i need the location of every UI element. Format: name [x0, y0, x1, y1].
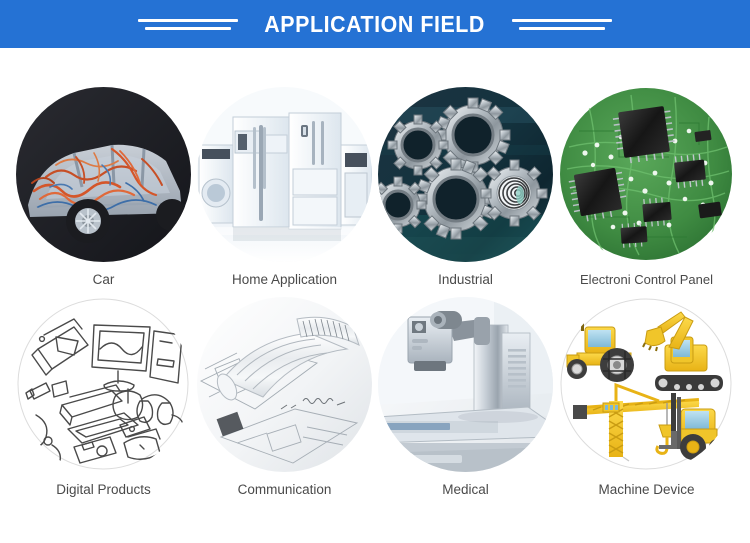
grid-item-label: Machine Device — [598, 482, 694, 497]
industrial-gears-photo — [378, 87, 553, 262]
application-field-page: APPLICATION FIELD — [0, 0, 750, 543]
car-wiring-harness-photo — [16, 87, 191, 262]
grid-item-label: Industrial — [438, 272, 493, 287]
blueprint-drawings-photo — [197, 297, 372, 472]
grid-item-communication[interactable]: Communication — [195, 297, 374, 497]
grid-item-digital-products[interactable]: Digital Products — [14, 297, 193, 497]
grid-item-industrial[interactable]: Industrial — [376, 87, 555, 287]
grid-item-electroni-control-panel[interactable]: Electroni Control Panel — [557, 87, 736, 287]
medical-xray-machine-photo — [378, 297, 553, 472]
grid-item-car[interactable]: Car — [14, 87, 193, 287]
decorative-rule-left-icon — [138, 19, 238, 30]
home-appliances-photo — [197, 87, 372, 262]
grid-item-medical[interactable]: Medical — [376, 297, 555, 497]
pcb-control-panel-photo — [559, 87, 734, 262]
digital-products-lineart — [16, 297, 191, 472]
grid-item-label: Home Application — [232, 272, 337, 287]
grid-item-home-application[interactable]: Home Application — [195, 87, 374, 287]
grid-item-label: Digital Products — [56, 482, 151, 497]
page-header: APPLICATION FIELD — [0, 0, 750, 48]
grid-item-label: Medical — [442, 482, 489, 497]
page-title: APPLICATION FIELD — [265, 11, 486, 38]
application-field-grid: Car — [0, 48, 750, 497]
decorative-rule-right-icon — [512, 19, 612, 30]
grid-item-machine-device[interactable]: Machine Device — [557, 297, 736, 497]
grid-item-label: Electroni Control Panel — [580, 272, 713, 287]
grid-item-label: Car — [93, 272, 115, 287]
construction-machines-illustration — [559, 297, 734, 472]
grid-item-label: Communication — [238, 482, 332, 497]
